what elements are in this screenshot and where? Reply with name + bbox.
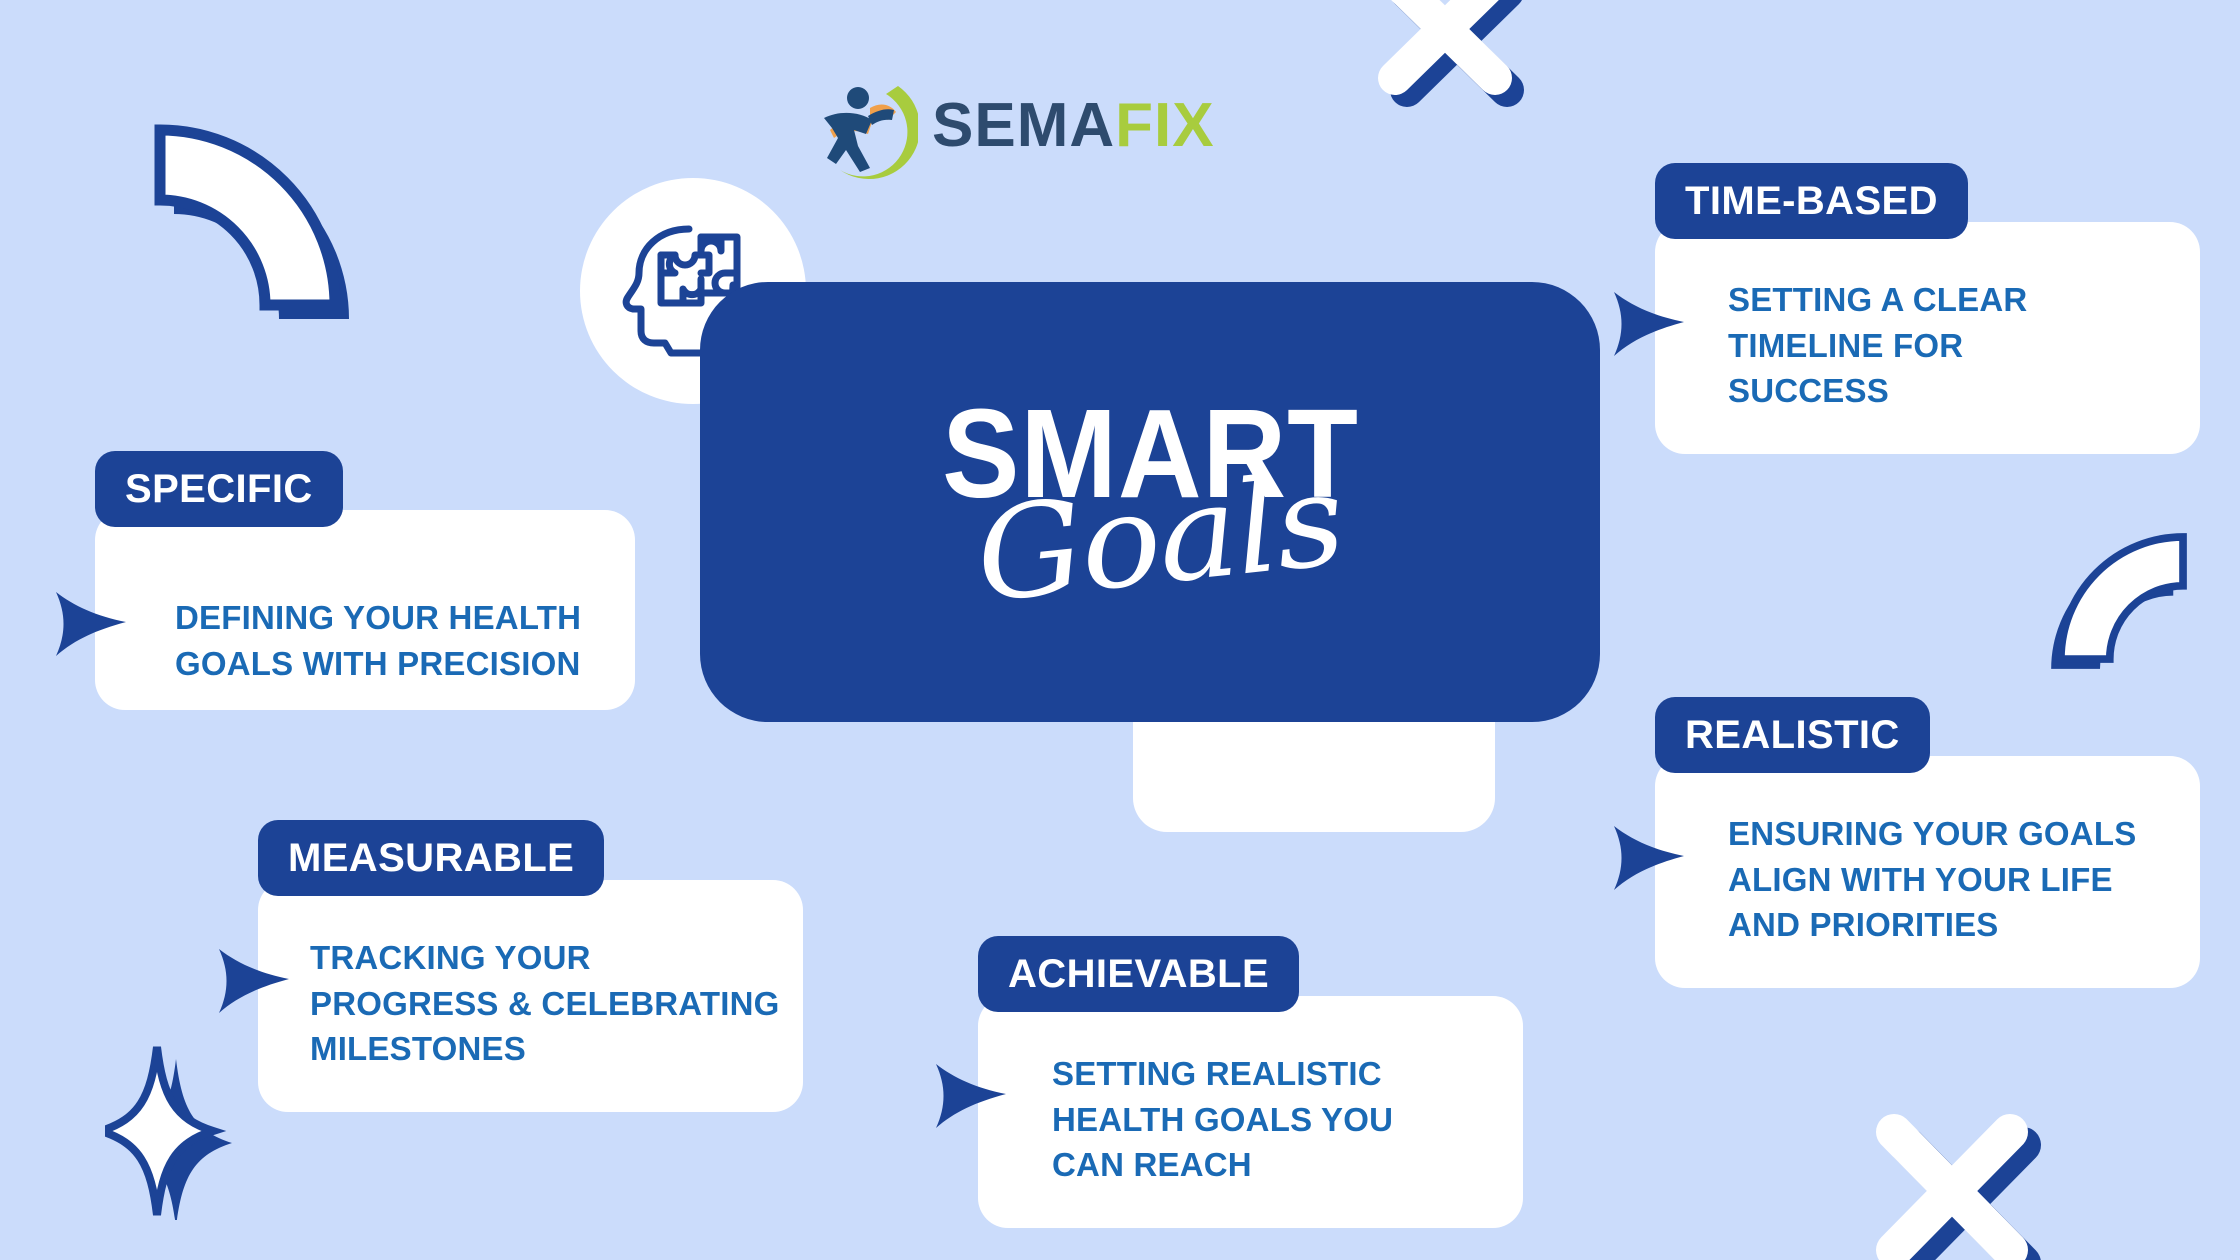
arrow-right-icon: [215, 945, 293, 1017]
infographic-canvas: SEMAFIX SMART Goals SPECIFIC DEFINING YO…: [0, 0, 2240, 1260]
card-title: ACHIEVABLE: [978, 936, 1299, 1012]
running-person-in-crescent-logo: [810, 72, 918, 180]
quarter-arc-icon: [2030, 530, 2200, 680]
card-title: TIME-BASED: [1655, 163, 1968, 239]
x-cross-icon: [1370, 0, 1540, 120]
brand-name-part2: FIX: [1115, 95, 1214, 157]
four-point-star-icon: [105, 1045, 235, 1220]
brand-name-part1: SEMA: [932, 95, 1115, 157]
card-body: ENSURING YOUR GOALS ALIGN WITH YOUR LIFE…: [1728, 811, 2198, 948]
arrow-right-icon: [1610, 288, 1688, 360]
card-body: SETTING REALISTIC HEALTH GOALS YOU CAN R…: [1052, 1051, 1522, 1188]
card-body: TRACKING YOUR PROGRESS & CELEBRATING MIL…: [310, 935, 810, 1072]
arrow-right-icon: [1610, 822, 1688, 894]
brand-wordmark: SEMAFIX: [932, 95, 1215, 157]
arrow-right-icon: [52, 588, 130, 660]
brand-logo: SEMAFIX: [810, 72, 1215, 180]
card-title: SPECIFIC: [95, 451, 343, 527]
card-title: MEASURABLE: [258, 820, 604, 896]
page-title-goals: Goals: [971, 466, 1347, 612]
card-body: DEFINING YOUR HEALTH GOALS WITH PRECISIO…: [175, 595, 615, 686]
card-body: SETTING A CLEAR TIMELINE FOR SUCCESS: [1728, 277, 2188, 414]
arrow-right-icon: [932, 1060, 1010, 1132]
x-cross-icon: [1862, 1110, 2062, 1260]
center-title-card: SMART Goals: [700, 282, 1600, 722]
card-title: REALISTIC: [1655, 697, 1930, 773]
quarter-arc-icon: [150, 120, 365, 335]
